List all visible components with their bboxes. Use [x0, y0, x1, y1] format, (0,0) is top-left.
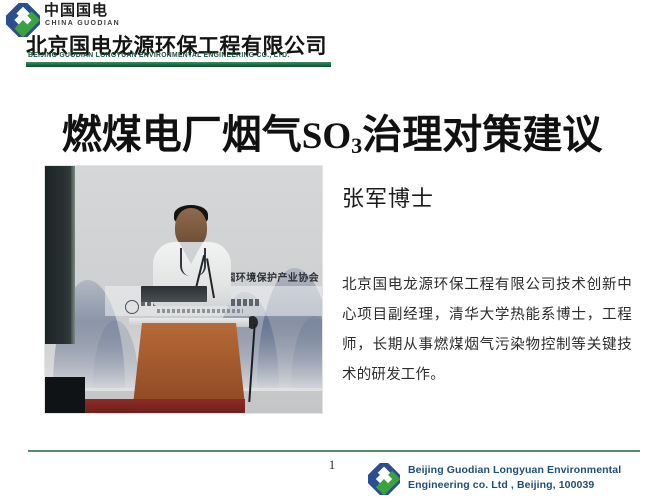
brand-chinese-name: 中国国电: [44, 2, 108, 18]
speaker-biography: 北京国电龙源环保工程有限公司技术创新中心项目副经理，清华大学热能系博士，工程师，…: [342, 270, 632, 390]
footer-divider-line: [28, 450, 640, 452]
header-divider-bar: [26, 62, 331, 67]
brand-english-name: CHINA GUODIAN: [45, 20, 120, 27]
footer-company-line-2: Engineering co. Ltd , Beijing, 100039: [408, 478, 621, 493]
footer-company-address: Beijing Guodian Longyuan Environmental E…: [408, 463, 621, 493]
footer-company-line-1: Beijing Guodian Longyuan Environmental: [408, 464, 621, 476]
company-english-name: BEIJING GUODIAN LONGYUAN ENVIRONMENTAL E…: [28, 52, 290, 59]
photo-backdrop-emblem-icon: [125, 300, 139, 314]
photo-laptop: [141, 286, 207, 302]
speaker-name: 张军博士: [342, 181, 434, 213]
photo-foreground-shadow: [45, 377, 85, 413]
presentation-slide: 中国国电 CHINA GUODIAN 北京国电龙源环保工程有限公司 BEIJIN…: [0, 0, 664, 502]
title-chemical-formula: SO3: [302, 116, 362, 157]
title-chem-main: SO: [302, 116, 351, 157]
page-number: 1: [322, 457, 342, 473]
slide-header: 中国国电 CHINA GUODIAN 北京国电龙源环保工程有限公司 BEIJIN…: [0, 0, 664, 72]
page-title: 燃煤电厂烟气SO3治理对策建议: [0, 111, 664, 165]
photo-projection-screen: [45, 166, 73, 344]
title-chem-subscript: 3: [351, 133, 362, 158]
photo-backdrop-banner-subline: [157, 309, 243, 313]
guodian-diamond-logo-icon: [368, 463, 400, 495]
title-part-1: 燃煤电厂烟气: [62, 112, 302, 158]
title-part-2: 治理对策建议: [362, 112, 602, 158]
speaker-at-podium-photo: 中国环境保护产业协会: [45, 166, 322, 413]
photo-projection-screen-edge: [71, 166, 75, 344]
photo-podium: [133, 323, 245, 405]
